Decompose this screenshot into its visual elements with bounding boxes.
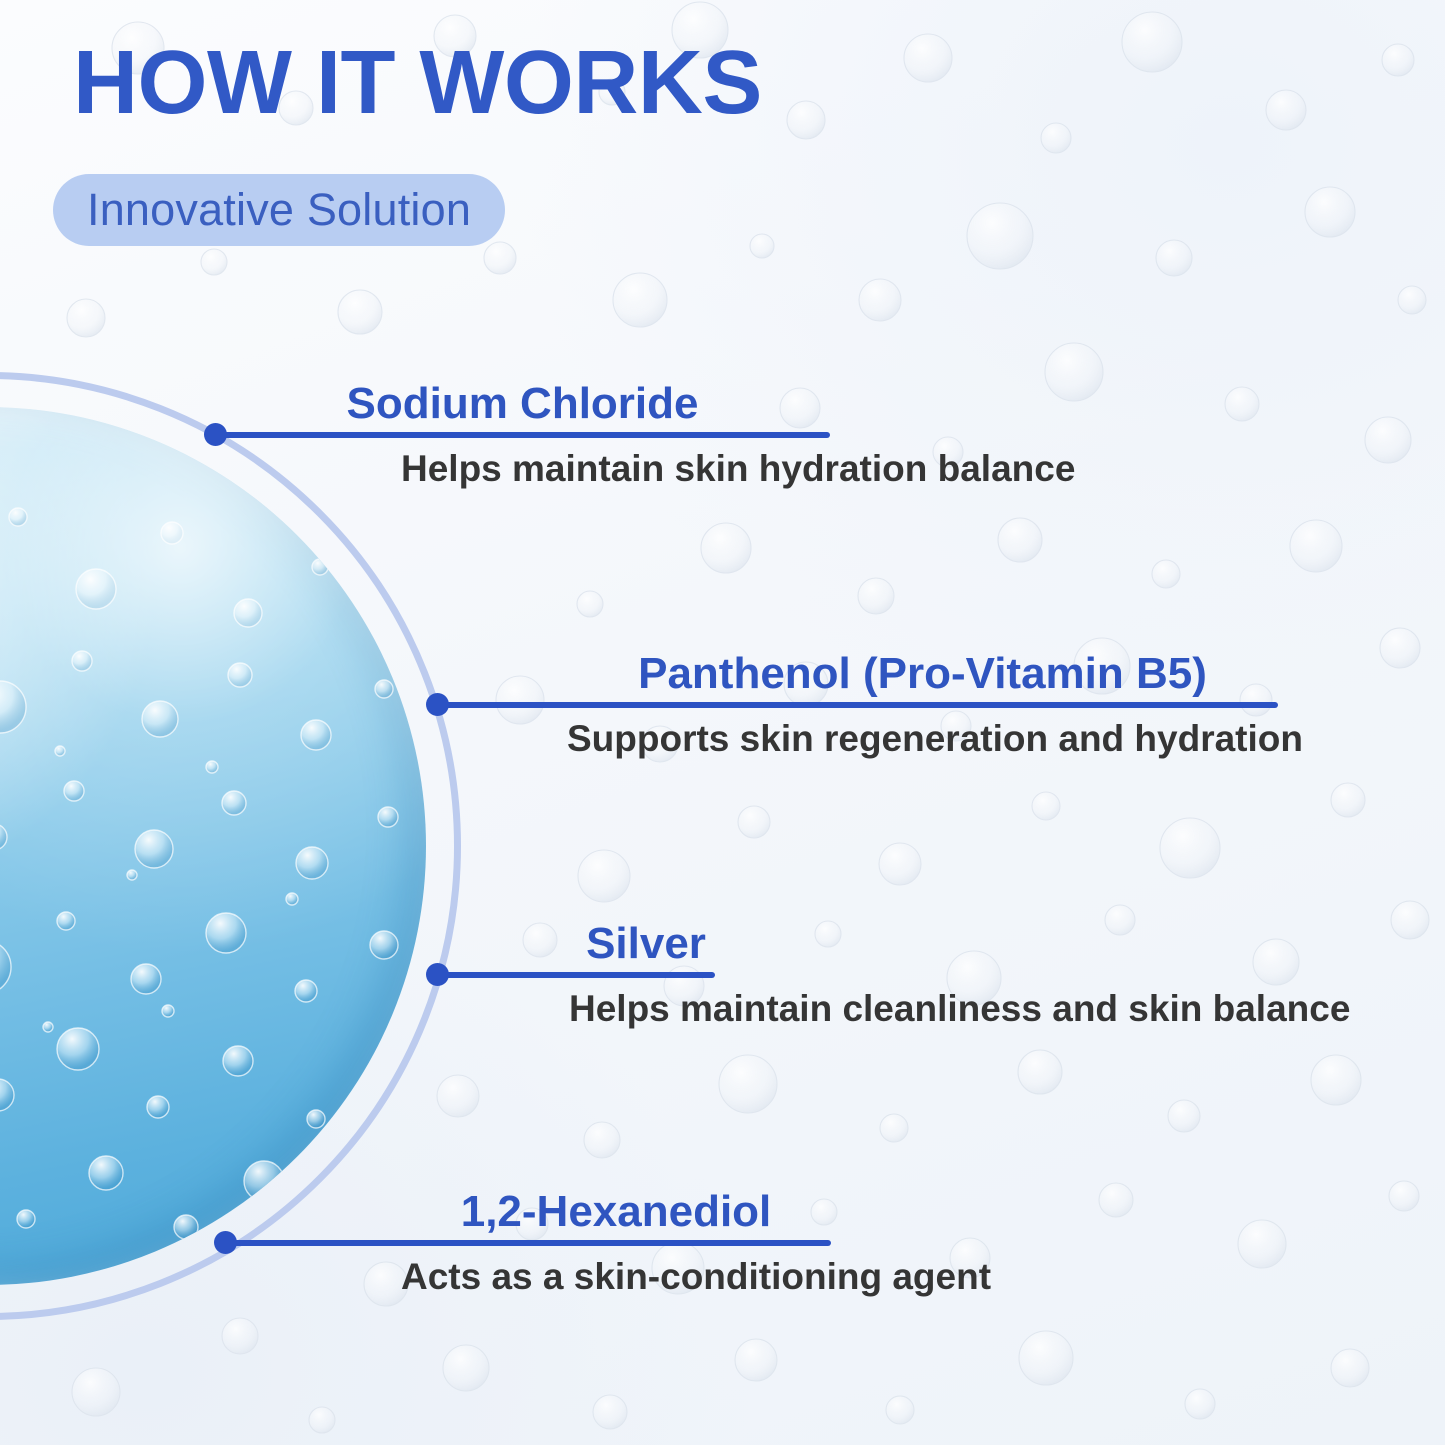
connector-line [225,1240,831,1246]
page-title: HOW IT WORKS [73,38,762,130]
ingredient-description: Helps maintain cleanliness and skin bala… [437,978,715,1031]
connector-line [437,972,715,978]
connector-dot-icon [426,963,449,986]
connector-line [437,702,1278,708]
connector-line [215,432,830,438]
gel-sphere [0,407,426,1285]
ingredient-callout-silver: Silver Helps maintain cleanliness and sk… [437,920,715,1030]
ingredient-callout-hexanediol: 1,2-Hexanediol Acts as a skin-conditioni… [225,1188,831,1298]
ingredient-callout-panthenol: Panthenol (Pro-Vitamin B5) Supports skin… [437,650,1278,760]
ingredient-description: Helps maintain skin hydration balance [215,438,830,491]
ingredient-callout-sodium-chloride: Sodium Chloride Helps maintain skin hydr… [215,380,830,490]
subtitle-badge-label: Innovative Solution [87,184,471,236]
subtitle-badge: Innovative Solution [53,174,505,246]
ingredient-description: Acts as a skin-conditioning agent [225,1246,831,1299]
ingredient-name: Panthenol (Pro-Vitamin B5) [437,650,1278,698]
connector-dot-icon [214,1231,237,1254]
ingredient-name: Silver [437,920,715,968]
ingredient-name: 1,2-Hexanediol [225,1188,831,1236]
connector-dot-icon [426,693,449,716]
infographic-canvas: HOW IT WORKS Innovative Solution Sodium … [0,0,1445,1445]
ingredient-name: Sodium Chloride [215,380,830,428]
gel-bubble-texture [0,407,426,1285]
connector-dot-icon [204,423,227,446]
gel-sphere-outer-ring [0,372,461,1320]
ingredient-description: Supports skin regeneration and hydration [437,708,1278,761]
